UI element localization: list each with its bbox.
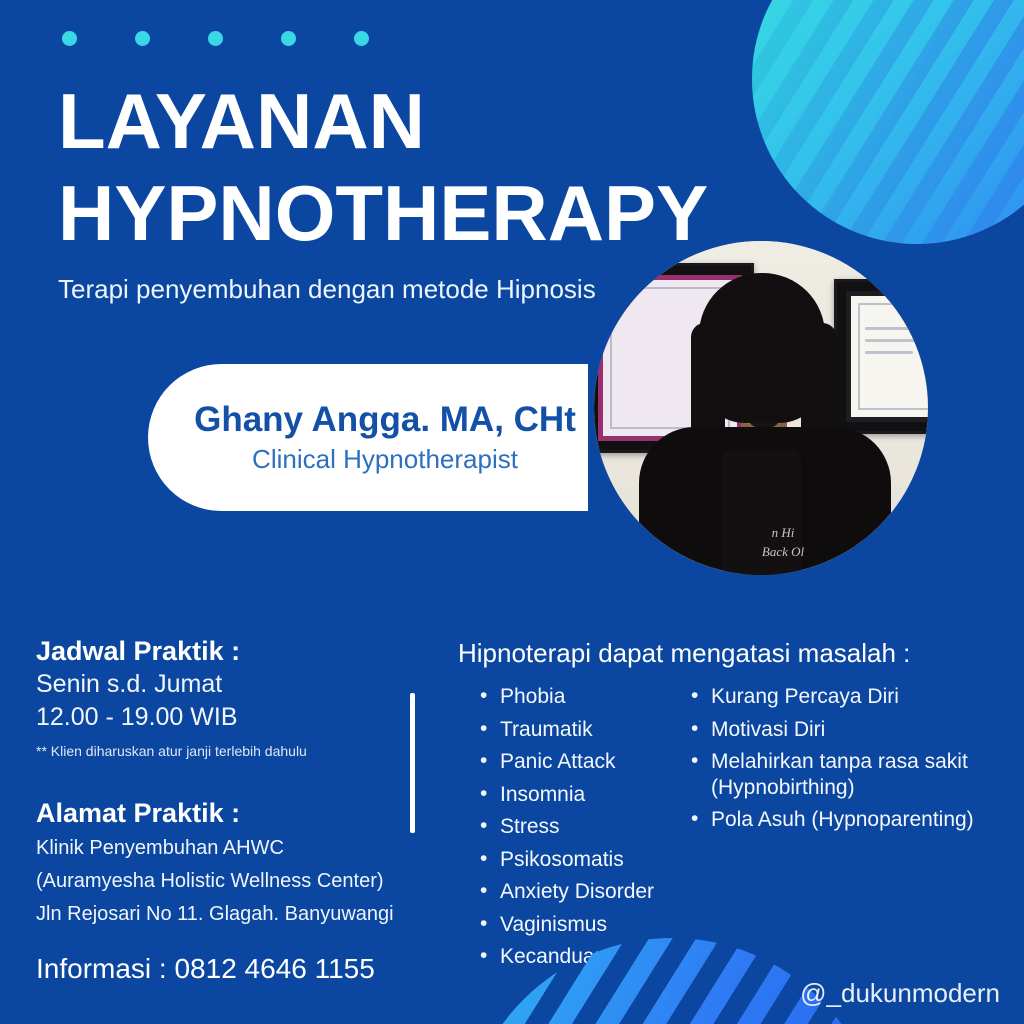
title-line-1: LAYANAN (58, 82, 758, 160)
stripe-gradient (752, 0, 1024, 244)
address-line-1: Klinik Penyembuhan AHWC (36, 834, 396, 863)
address-heading: Alamat Praktik : (36, 796, 396, 830)
poster-canvas: LAYANAN HYPNOTHERAPY Terapi penyembuhan … (0, 0, 1024, 1024)
list-item: Kurang Percaya Diri (691, 684, 1003, 710)
address-line-2: (Auramyesha Holistic Wellness Center) (36, 867, 396, 896)
list-item: Insomnia (480, 782, 683, 808)
schedule-note: ** Klien diharuskan atur janji terlebih … (36, 740, 396, 762)
practitioner-photo: n Hi Back Ol (588, 235, 934, 581)
schedule-heading: Jadwal Praktik : (36, 634, 396, 668)
shirt-print-line-2: Back Ol (762, 544, 804, 559)
spacer (36, 762, 396, 796)
list-item: Melahirkan tanpa rasa sakit (Hypnobirthi… (691, 749, 1003, 800)
shirt-print-text: n Hi Back Ol (735, 523, 831, 561)
contact-information: Informasi : 0812 4646 1155 (36, 951, 375, 987)
dot-icon (281, 31, 296, 46)
services-column: Hipnoterapi dapat mengatasi masalah : Ph… (458, 636, 1010, 977)
list-item: Psikosomatis (480, 847, 683, 873)
dot-icon (62, 31, 77, 46)
dot-icon (208, 31, 223, 46)
services-list-left: Phobia Traumatik Panic Attack Insomnia S… (458, 684, 683, 977)
practitioner-role: Clinical Hypnotherapist (252, 443, 518, 475)
dot-icon (354, 31, 369, 46)
schedule-hours: 12.00 - 19.00 WIB (36, 701, 396, 734)
practitioner-name: Ghany Angga. MA, CHt (194, 400, 576, 440)
list-item: Pola Asuh (Hypnoparenting) (691, 807, 1003, 833)
striped-circle-top-right-decoration (752, 0, 1024, 244)
list-item: Stress (480, 814, 683, 840)
practice-details-column: Jadwal Praktik : Senin s.d. Jumat 12.00 … (36, 634, 396, 929)
list-item: Panic Attack (480, 749, 683, 775)
address-line-3: Jln Rejosari No 11. Glagah. Banyuwangi (36, 900, 396, 929)
list-item: Motivasi Diri (691, 717, 1003, 743)
dot-row-decoration (62, 31, 369, 46)
list-item: Vaginismus (480, 912, 683, 938)
dot-icon (135, 31, 150, 46)
jacket-opening (723, 449, 801, 581)
list-item: Phobia (480, 684, 683, 710)
social-handle: @_dukunmodern (800, 977, 1000, 1009)
schedule-days: Senin s.d. Jumat (36, 668, 396, 701)
practitioner-name-card: Ghany Angga. MA, CHt Clinical Hypnothera… (148, 364, 588, 511)
list-item: Traumatik (480, 717, 683, 743)
services-lists: Phobia Traumatik Panic Attack Insomnia S… (458, 684, 1010, 977)
list-item: Anxiety Disorder (480, 879, 683, 905)
services-heading: Hipnoterapi dapat mengatasi masalah : (458, 636, 1010, 670)
services-list-right: Kurang Percaya Diri Motivasi Diri Melahi… (683, 684, 1003, 977)
black-jacket: n Hi Back Ol (639, 427, 891, 581)
shirt-print-line-1: n Hi (772, 525, 795, 540)
person-figure: n Hi Back Ol (623, 271, 923, 581)
vertical-divider (410, 693, 415, 833)
hair-top (699, 273, 825, 423)
